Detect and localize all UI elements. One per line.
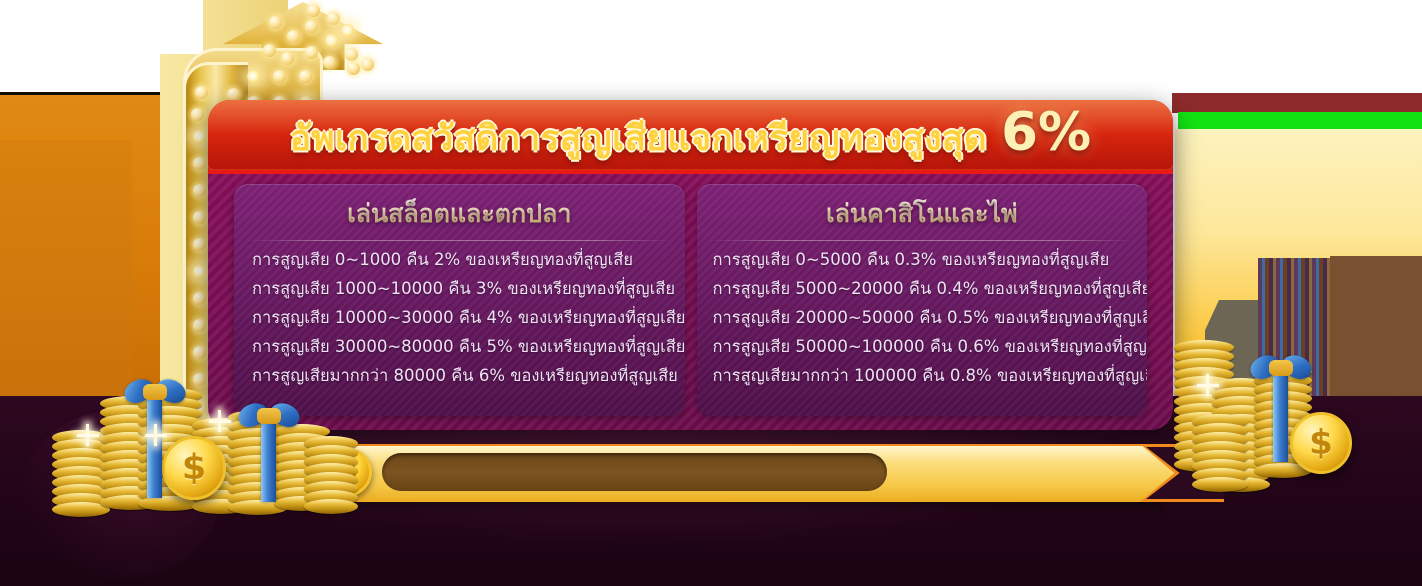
sparkle	[1206, 374, 1209, 396]
marquee-bulb	[345, 48, 358, 61]
panel-casino-cards: เล่นคาสิโนและไพ่ การสูญเสีย 0~5000 คืน 0…	[697, 184, 1148, 416]
marquee-bulb	[347, 62, 360, 75]
promo-input-field[interactable]	[382, 453, 887, 491]
panel-title-casino-cards: เล่นคาสิโนและไพ่	[709, 194, 1136, 240]
marquee-bulb	[361, 58, 374, 71]
panel-divider	[246, 240, 673, 241]
dollar-coin-icon: $	[162, 436, 226, 500]
list-item: การสูญเสีย 10000~30000 คืน 4% ของเหรียญท…	[246, 303, 673, 332]
bottom-ribbon-bar: $	[284, 444, 1224, 502]
header-underline	[208, 170, 1173, 174]
bow-knot	[1269, 360, 1293, 376]
coin	[1192, 477, 1248, 492]
header-title: อัพเกรดสวัสดิการสูญเสียแจกเหรียญทองสูงสุ…	[290, 106, 1091, 166]
list-item: การสูญเสีย 50000~100000 คืน 0.6% ของเหรี…	[709, 332, 1136, 361]
bow-knot	[257, 408, 281, 424]
background-green-strip	[1178, 112, 1422, 130]
panel-rows-casino-cards: การสูญเสีย 0~5000 คืน 0.3% ของเหรียญทองท…	[709, 245, 1136, 390]
list-item: การสูญเสีย 30000~80000 คืน 5% ของเหรียญท…	[246, 332, 673, 361]
ribbon-tail	[261, 418, 276, 502]
list-item: การสูญเสีย 0~1000 คืน 2% ของเหรียญทองที่…	[246, 245, 673, 274]
panel-divider	[709, 240, 1136, 241]
sparkle	[154, 424, 157, 446]
list-item: การสูญเสียมากกว่า 100000 คืน 0.8% ของเหร…	[709, 361, 1136, 390]
bow-knot	[143, 384, 167, 400]
sparkle	[86, 424, 89, 446]
sparkle	[218, 410, 221, 432]
list-item: การสูญเสีย 0~5000 คืน 0.3% ของเหรียญทองท…	[709, 245, 1136, 274]
gold-coin-stack-gift-icon-right: $	[1168, 330, 1398, 530]
panels-container: เล่นสล็อตและตกปลา การสูญเสีย 0~1000 คืน …	[234, 184, 1147, 416]
header-thai-title: อัพเกรดสวัสดิการสูญเสียแจกเหรียญทองสูงสุ…	[290, 111, 987, 166]
panel-title-slots-fishing: เล่นสล็อตและตกปลา	[246, 194, 673, 240]
gold-coin-stack-gift-icon-left: $	[42, 358, 342, 538]
list-item: การสูญเสีย 1000~10000 คืน 3% ของเหรียญทอ…	[246, 274, 673, 303]
dollar-coin-icon: $	[1290, 412, 1352, 474]
list-item: การสูญเสีย 5000~20000 คืน 0.4% ของเหรียญ…	[709, 274, 1136, 303]
promo-card: อัพเกรดสวัสดิการสูญเสียแจกเหรียญทองสูงสุ…	[208, 100, 1173, 430]
list-item: การสูญเสีย 20000~50000 คืน 0.5% ของเหรีย…	[709, 303, 1136, 332]
ribbon-tail	[147, 394, 162, 498]
promo-banner: อัพเกรดสวัสดิการสูญเสียแจกเหรียญทองสูงสุ…	[0, 0, 1422, 586]
promo-header: อัพเกรดสวัสดิการสูญเสียแจกเหรียญทองสูงสุ…	[208, 100, 1173, 172]
header-percent-badge: 6%	[1001, 106, 1091, 159]
coin	[304, 499, 358, 514]
ribbon-tail	[1273, 370, 1288, 462]
background-red-strip	[1172, 93, 1422, 113]
